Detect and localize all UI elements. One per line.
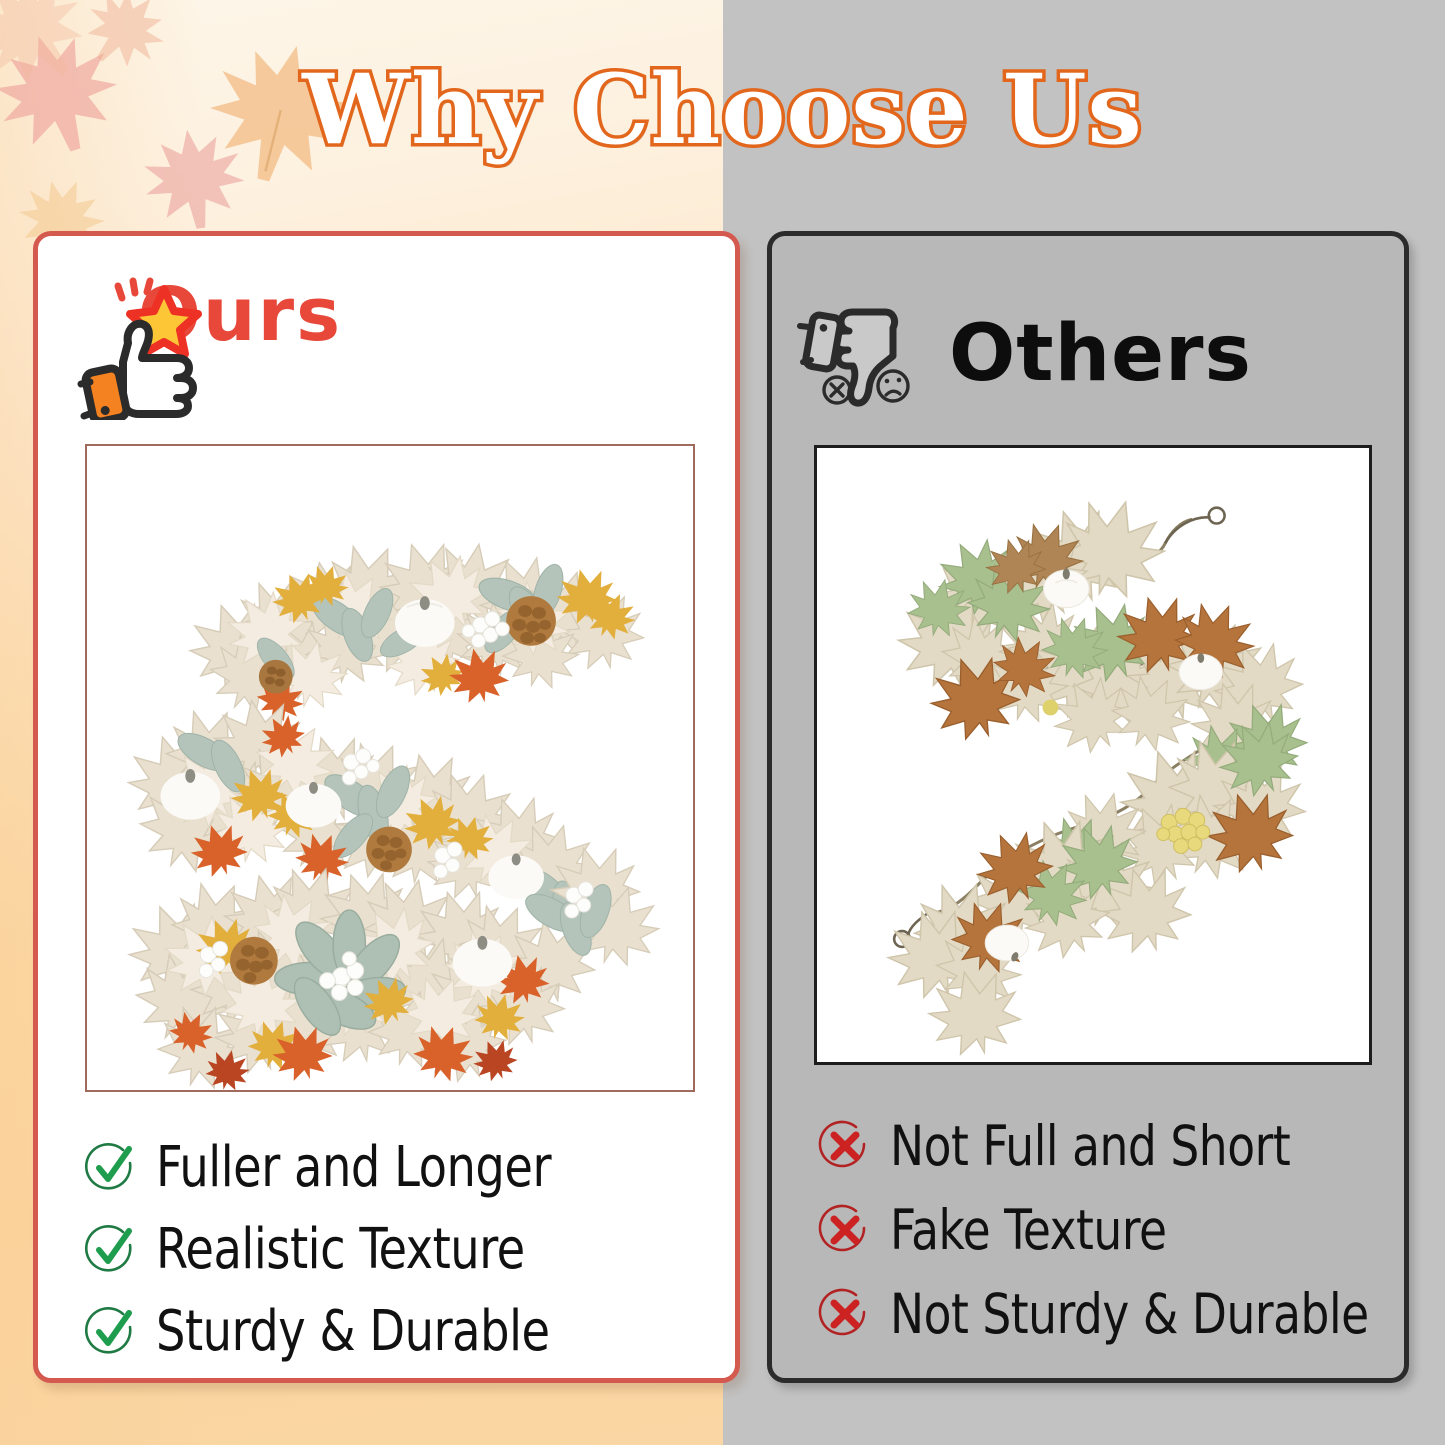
- feature-label: Realistic Texture: [156, 1222, 525, 1278]
- list-item: Realistic Texture: [84, 1210, 585, 1290]
- feature-label: Sturdy & Durable: [156, 1304, 550, 1360]
- list-item: Not Sturdy & Durable: [818, 1274, 1410, 1354]
- feature-label: Fuller and Longer: [156, 1140, 551, 1196]
- product-photo-others: [814, 445, 1372, 1065]
- x-circle-icon: [818, 1203, 872, 1257]
- feature-list-ours: Fuller and Longer Realistic Texture: [84, 1128, 585, 1374]
- check-circle-icon: [84, 1223, 138, 1277]
- feature-label: Fake Texture: [890, 1203, 1167, 1258]
- feature-label: Not Full and Short: [890, 1119, 1290, 1174]
- x-circle-icon: [818, 1287, 872, 1341]
- page-title: Why Choose Us: [0, 58, 1445, 162]
- list-item: Not Full and Short: [818, 1106, 1410, 1186]
- x-circle-icon: [818, 1119, 872, 1173]
- card-label-others: Others: [949, 315, 1252, 393]
- list-item: Fuller and Longer: [84, 1128, 585, 1208]
- card-header-others: Others: [797, 294, 1252, 414]
- feature-label: Not Sturdy & Durable: [890, 1287, 1369, 1342]
- thumbs-up-icon: [76, 270, 226, 425]
- check-circle-icon: [84, 1141, 138, 1195]
- comparison-card-others: Others: [767, 231, 1409, 1383]
- card-header-ours: Ours: [76, 278, 342, 352]
- thumbs-down-icon: [797, 294, 927, 414]
- feature-list-others: Not Full and Short Fake Texture: [818, 1106, 1410, 1358]
- infographic-page: Why Choose Us Why Choose Us: [0, 0, 1445, 1445]
- check-circle-icon: [84, 1305, 138, 1359]
- product-photo-ours: [85, 444, 695, 1092]
- comparison-card-ours: Ours: [33, 231, 740, 1383]
- list-item: Sturdy & Durable: [84, 1292, 585, 1372]
- list-item: Fake Texture: [818, 1190, 1410, 1270]
